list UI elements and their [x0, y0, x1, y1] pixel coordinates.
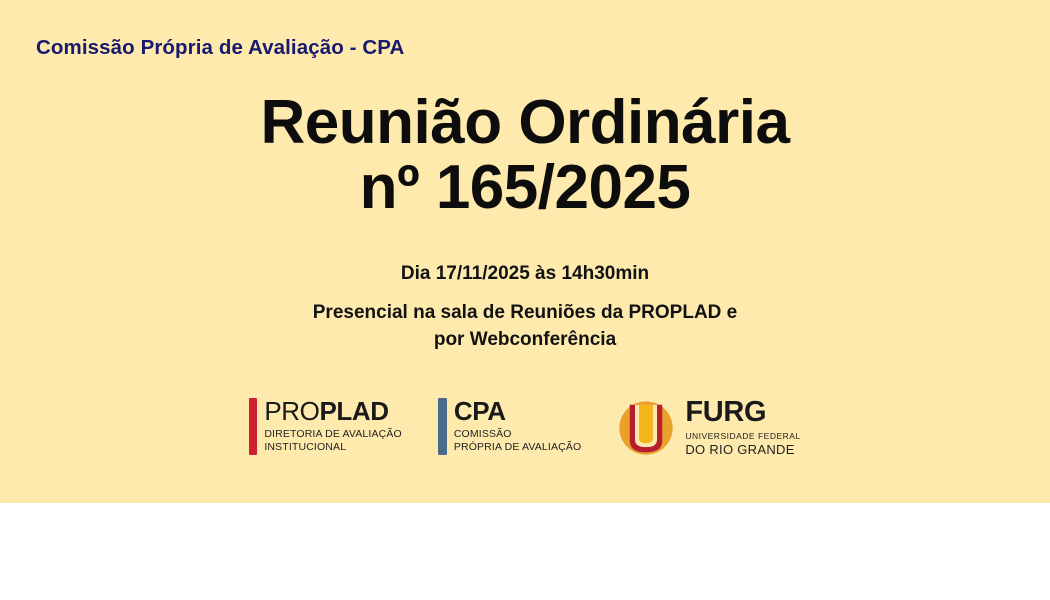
- furg-subtitle-line-2: DO RIO GRANDE: [685, 442, 800, 457]
- slide-subtitle-block: Dia 17/11/2025 às 14h30min Presencial na…: [0, 261, 1050, 354]
- cpa-subtitle-line-2: PRÓPRIA DE AVALIAÇÃO: [454, 441, 582, 454]
- cpa-subtitle-line-1: COMISSÃO: [454, 428, 582, 441]
- proplad-red-bar-icon: [249, 398, 257, 455]
- slide-eyebrow-heading: Comissão Própria de Avaliação - CPA: [36, 36, 404, 60]
- proplad-wordmark-part-1: PRO: [264, 396, 319, 426]
- proplad-logo: PROPLAD DIRETORIA DE AVALIAÇÃO INSTITUCI…: [249, 398, 402, 455]
- proplad-wordmark-part-2: PLAD: [319, 396, 388, 426]
- title-line-2: nº 165/2025: [0, 155, 1050, 220]
- cpa-logo: CPA COMISSÃO PRÓPRIA DE AVALIAÇÃO: [438, 398, 582, 455]
- title-line-1: Reunião Ordinária: [0, 90, 1050, 155]
- slide-outer-background: [0, 503, 1050, 600]
- slide-canvas: Comissão Própria de Avaliação - CPA Reun…: [0, 0, 1050, 600]
- logo-strip: PROPLAD DIRETORIA DE AVALIAÇÃO INSTITUCI…: [0, 398, 1050, 457]
- cpa-blue-bar-icon: [438, 398, 447, 455]
- furg-logo-text: FURG UNIVERSIDADE FEDERAL DO RIO GRANDE: [685, 398, 800, 457]
- page-title: Reunião Ordinária nº 165/2025: [0, 90, 1050, 220]
- meeting-location-line-1: Presencial na sala de Reuniões da PROPLA…: [0, 299, 1050, 327]
- cpa-wordmark: CPA: [454, 398, 582, 424]
- furg-subtitle-line-1: UNIVERSIDADE FEDERAL: [685, 431, 800, 441]
- furg-wordmark: FURG: [685, 398, 800, 427]
- meeting-datetime: Dia 17/11/2025 às 14h30min: [0, 261, 1050, 287]
- proplad-logo-text: PROPLAD DIRETORIA DE AVALIAÇÃO INSTITUCI…: [264, 398, 402, 455]
- proplad-wordmark: PROPLAD: [264, 398, 402, 424]
- proplad-subtitle-line-2: INSTITUCIONAL: [264, 441, 402, 454]
- proplad-subtitle-line-1: DIRETORIA DE AVALIAÇÃO: [264, 428, 402, 441]
- cpa-wordmark-label: CPA: [454, 396, 506, 426]
- presentation-slide: Comissão Própria de Avaliação - CPA Reun…: [0, 0, 1050, 503]
- furg-emblem-icon: [617, 399, 675, 457]
- cpa-logo-text: CPA COMISSÃO PRÓPRIA DE AVALIAÇÃO: [454, 398, 582, 455]
- meeting-location-line-2: por Webconferência: [0, 326, 1050, 354]
- furg-logo: FURG UNIVERSIDADE FEDERAL DO RIO GRANDE: [617, 398, 800, 457]
